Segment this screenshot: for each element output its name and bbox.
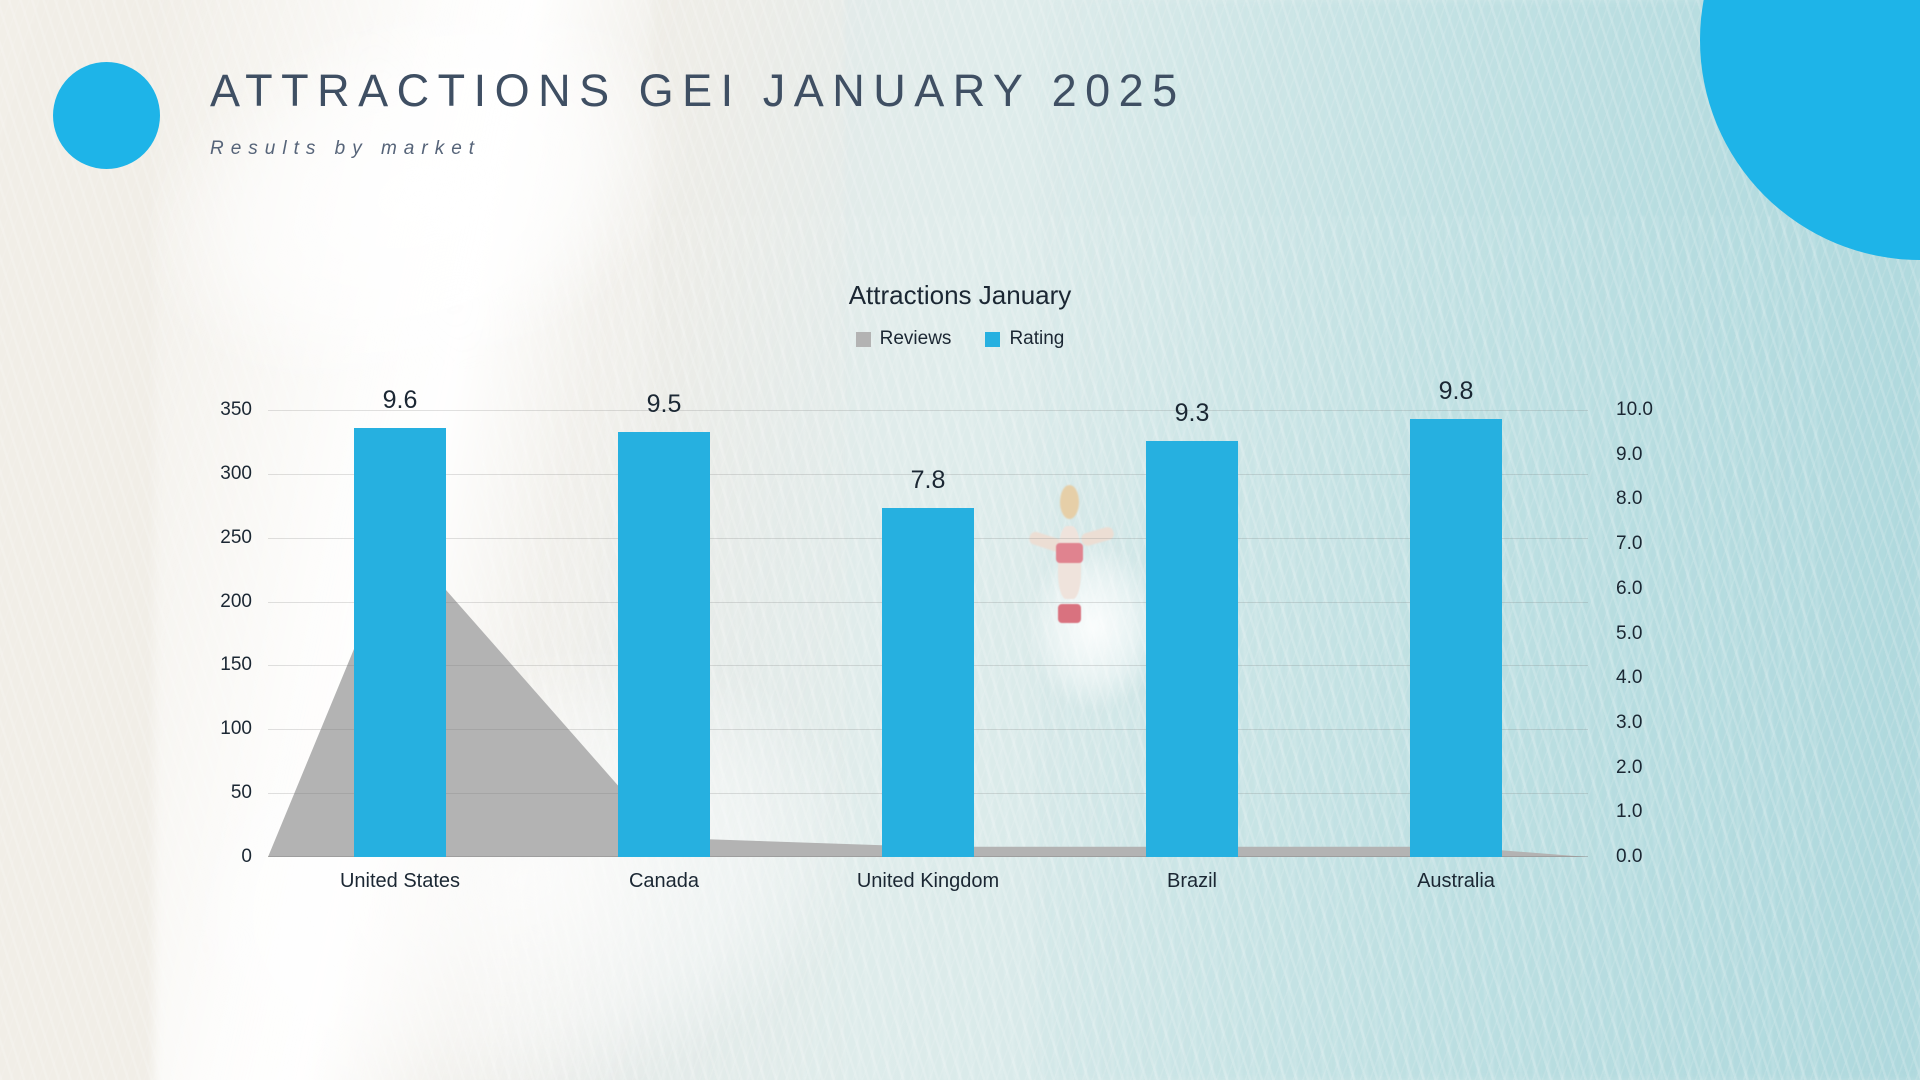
bar-value-label: 9.5 [584, 390, 744, 419]
bar-value-label: 9.8 [1376, 377, 1536, 406]
right-axis-tick-label: 8.0 [1616, 488, 1696, 510]
legend-label-rating: Rating [1009, 328, 1064, 350]
legend-label-reviews: Reviews [880, 328, 952, 350]
legend-swatch-rating [985, 332, 1000, 347]
left-axis-tick-label: 0 [188, 846, 252, 868]
left-axis-tick-label: 150 [188, 654, 252, 676]
right-axis-tick-label: 10.0 [1616, 399, 1696, 421]
category-label: United States [270, 870, 530, 893]
right-axis-tick-label: 0.0 [1616, 846, 1696, 868]
right-axis-tick-label: 2.0 [1616, 757, 1696, 779]
right-axis-tick-label: 5.0 [1616, 623, 1696, 645]
chart-container: Attractions January Reviews Rating 35030… [0, 280, 1920, 920]
slide-header: ATTRACTIONS GEI JANUARY 2025 Results by … [210, 66, 1610, 160]
right-axis-tick-label: 6.0 [1616, 578, 1696, 600]
decorative-circle-icon [53, 62, 160, 169]
bar-united-states[interactable] [354, 428, 446, 857]
bar-canada[interactable] [618, 432, 710, 857]
left-axis-tick-label: 50 [188, 782, 252, 804]
right-axis-tick-label: 9.0 [1616, 444, 1696, 466]
plot-area: 35030025020015010050010.09.08.07.06.05.0… [268, 410, 1588, 857]
bar-brazil[interactable] [1146, 441, 1238, 857]
chart-title: Attractions January [0, 280, 1920, 311]
left-axis-tick-label: 200 [188, 591, 252, 613]
legend-swatch-reviews [856, 332, 871, 347]
bar-value-label: 9.3 [1112, 399, 1272, 428]
page-subtitle: Results by market [210, 138, 1610, 160]
right-axis-tick-label: 7.0 [1616, 533, 1696, 555]
legend-item-reviews[interactable]: Reviews [856, 328, 952, 350]
left-axis-tick-label: 300 [188, 463, 252, 485]
category-label: Brazil [1062, 870, 1322, 893]
bar-value-label: 7.8 [848, 466, 1008, 495]
right-axis-tick-label: 3.0 [1616, 712, 1696, 734]
bar-value-label: 9.6 [320, 386, 480, 415]
category-label: United Kingdom [798, 870, 1058, 893]
chart-legend: Reviews Rating [0, 328, 1920, 350]
right-axis-tick-label: 1.0 [1616, 801, 1696, 823]
left-axis-tick-label: 350 [188, 399, 252, 421]
bar-united-kingdom[interactable] [882, 508, 974, 857]
page-title: ATTRACTIONS GEI JANUARY 2025 [210, 66, 1610, 116]
right-axis-tick-label: 4.0 [1616, 667, 1696, 689]
left-axis-tick-label: 100 [188, 718, 252, 740]
legend-item-rating[interactable]: Rating [985, 328, 1064, 350]
left-axis-tick-label: 250 [188, 527, 252, 549]
bar-australia[interactable] [1410, 419, 1502, 857]
slide-canvas: ATTRACTIONS GEI JANUARY 2025 Results by … [0, 0, 1920, 1080]
category-label: Australia [1326, 870, 1586, 893]
category-label: Canada [534, 870, 794, 893]
